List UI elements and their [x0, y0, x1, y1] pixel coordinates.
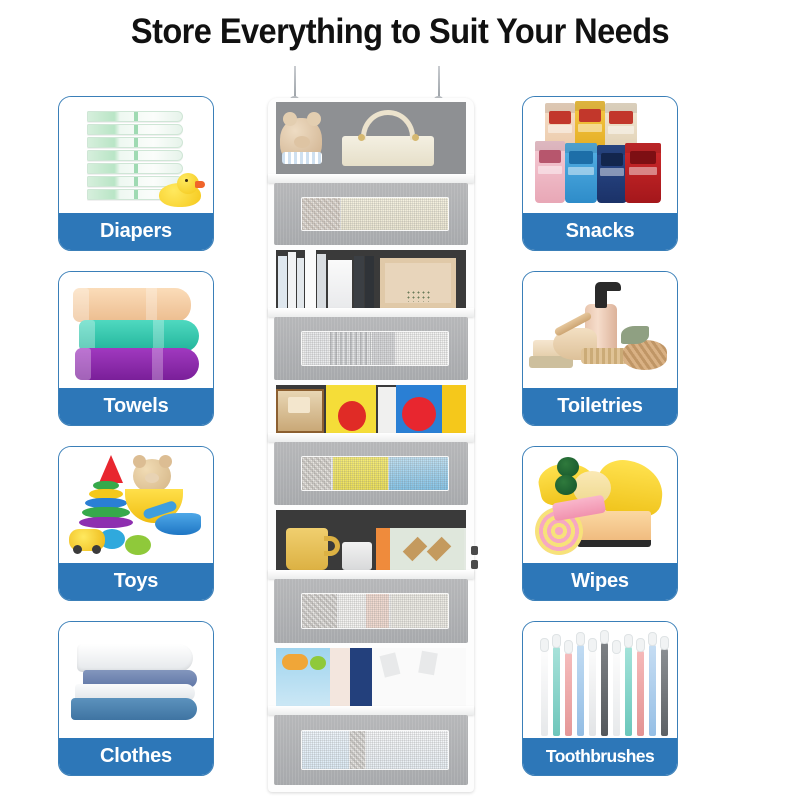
- feature-card-diapers[interactable]: Diapers: [58, 96, 214, 251]
- organizer-frame: [268, 98, 474, 792]
- toiletries-artwork: [523, 272, 677, 390]
- towels-artwork: [59, 272, 213, 390]
- toy-teddy-ear-left: [133, 455, 146, 468]
- card-label-toothbrushes: Toothbrushes: [523, 738, 677, 775]
- toy-teddy-muzzle: [145, 473, 159, 483]
- pocket-5-content-c: [366, 731, 447, 768]
- toothbrush-4-blue: [577, 644, 584, 736]
- toy-airplane-body: [155, 513, 201, 535]
- picture-frame-art: [406, 290, 430, 302]
- toothbrush-11-gray: [661, 648, 668, 736]
- feature-card-toys[interactable]: Toys: [58, 446, 214, 601]
- box-orange: [376, 528, 390, 570]
- shelf-3-pocket: [274, 442, 468, 505]
- box-pattern: [390, 528, 464, 570]
- shelf-rail-2: [268, 308, 474, 317]
- toothbrush-2-teal: [553, 646, 560, 736]
- teddy-bear-ear-left: [283, 112, 297, 126]
- shelf-rail-3: [268, 433, 474, 442]
- handbag-body: [342, 136, 434, 166]
- diaper-4: [87, 150, 183, 161]
- scrubber-pad-top: [557, 457, 579, 477]
- feature-card-toothbrushes[interactable]: Toothbrushes: [522, 621, 678, 776]
- clothes-white-top: [77, 644, 193, 672]
- side-clip-upper: [471, 546, 478, 555]
- toy-car-wheel-right: [92, 545, 101, 554]
- handbag-ring-right: [412, 134, 419, 141]
- duck-beak: [195, 181, 205, 188]
- pocket-4-content-b: [339, 594, 365, 628]
- shelf-5-mesh-window: [301, 730, 448, 769]
- snack-box-white: [378, 387, 396, 433]
- shelf-rail-5: [268, 706, 474, 715]
- pocket-4-content-a: [302, 594, 337, 628]
- stacker-ring-purple: [79, 517, 133, 528]
- shelf-4-open: [276, 510, 466, 570]
- pocket-4-content-d: [391, 594, 448, 628]
- towel-purple: [75, 348, 199, 380]
- snack-bag-navy: [597, 145, 627, 203]
- diaper-3: [87, 137, 183, 148]
- pocket-4-content-c: [366, 594, 389, 628]
- shelf-2-mesh-window: [301, 331, 448, 366]
- pocket-1-content-a: [302, 198, 340, 231]
- pocket-2-content-d: [397, 332, 448, 365]
- book-2: [288, 252, 296, 308]
- toothbrush-7-white: [613, 652, 620, 736]
- snack-bag-pink: [535, 141, 565, 203]
- toys-artwork: [59, 447, 213, 565]
- soap-dispenser-neck: [595, 288, 607, 308]
- feature-card-wipes[interactable]: Wipes: [522, 446, 678, 601]
- toy-flower-green: [125, 535, 151, 555]
- pocket-1-content-b: [341, 198, 447, 231]
- pocket-2-content-a: [305, 332, 328, 365]
- card-label-towels: Towels: [59, 388, 213, 425]
- rubber-duck-icon: [159, 173, 201, 207]
- toothbrush-8-teal: [625, 646, 632, 736]
- box-edge: [464, 528, 466, 570]
- shelf-3-open: [276, 385, 466, 433]
- scrubber-pad-bottom: [555, 475, 577, 495]
- pocket-5-content-a: [302, 731, 349, 768]
- toy-car-wheel-left: [73, 545, 82, 554]
- sponge-scour-side: [577, 540, 651, 547]
- clothes-blue-bottom: [71, 698, 197, 720]
- card-label-clothes: Clothes: [59, 738, 213, 775]
- wipes-artwork: [523, 447, 677, 565]
- teddy-bear-ear-right: [307, 112, 321, 126]
- mug-yellow: [286, 528, 328, 570]
- card-label-toys: Toys: [59, 563, 213, 600]
- pocket-3-content-b: [333, 457, 388, 490]
- page-title: Store Everything to Suit Your Needs: [28, 12, 772, 52]
- shelf-1-pocket: [274, 183, 468, 245]
- shelf-5-open: [276, 648, 466, 706]
- shelf-2-open: [276, 250, 466, 308]
- picture-book-cream: [330, 648, 350, 706]
- toiletries-card[interactable]: Toiletries: [522, 271, 678, 426]
- feature-card-snacks[interactable]: Snacks: [522, 96, 678, 251]
- toothbrush-3-pink: [565, 652, 572, 736]
- sponge-block: [577, 511, 651, 543]
- scrub-brush: [581, 348, 629, 364]
- diapers-artwork: [59, 97, 213, 215]
- organizer-illustration: [262, 66, 480, 794]
- shelf-2-pocket: [274, 317, 468, 380]
- towel-peach: [73, 288, 191, 322]
- picture-book-burger: [282, 654, 308, 670]
- notebook-white: [328, 260, 352, 308]
- container-white: [342, 542, 372, 570]
- shelf-5-pocket: [274, 715, 468, 785]
- soap-dispenser-pump: [595, 282, 621, 291]
- duck-eye: [185, 179, 188, 182]
- toothbrush-6-gray: [601, 642, 608, 736]
- book-1: [278, 256, 287, 308]
- feature-card-clothes[interactable]: Clothes: [58, 621, 214, 776]
- diaper-1: [87, 111, 183, 122]
- picture-book-fruit: [310, 656, 326, 670]
- snack-box-yellow-dot: [338, 401, 366, 431]
- side-clip-lower: [471, 560, 478, 569]
- book-title-sequence: [376, 686, 462, 704]
- snacks-artwork: [523, 97, 677, 215]
- book-dark-1: [354, 256, 364, 308]
- pocket-2-content-b: [330, 332, 371, 365]
- product-feature-collage: Store Everything to Suit Your Needs: [0, 0, 800, 800]
- snack-bag-red: [625, 143, 661, 203]
- shelf-3-mesh-window: [301, 456, 448, 491]
- shelf-rail-4: [268, 570, 474, 579]
- pocket-3-content-c: [389, 457, 447, 490]
- card-label-wipes: Wipes: [523, 563, 677, 600]
- stacker-cone: [99, 455, 123, 483]
- shelf-4-pocket: [274, 579, 468, 643]
- teddy-bear-muzzle: [294, 136, 310, 148]
- card-label-toiletries: Toiletries: [523, 388, 677, 425]
- toy-ball-red: [402, 397, 436, 431]
- snack-box-number: [288, 397, 310, 413]
- toy-teddy-ear-right: [159, 455, 172, 468]
- book-4: [305, 250, 316, 308]
- teddy-bear-ribbon: [282, 152, 322, 164]
- toothbrushes-artwork: [523, 622, 677, 740]
- pocket-3-content-a: [302, 457, 331, 490]
- handbag-ring-left: [358, 134, 365, 141]
- pocket-5-content-b: [350, 731, 365, 768]
- toothbrush-10-blue: [649, 644, 656, 736]
- picture-book-navy: [350, 648, 372, 706]
- hanging-strap-left: [294, 66, 296, 100]
- book-5: [317, 254, 326, 308]
- clothes-artwork: [59, 622, 213, 740]
- book-dark-2: [365, 256, 374, 308]
- card-label-diapers: Diapers: [59, 213, 213, 250]
- shelf-rail-1: [268, 174, 474, 183]
- feature-card-towels[interactable]: Towels: [58, 271, 214, 426]
- toothbrush-1-white: [541, 650, 548, 736]
- diaper-2: [87, 124, 183, 135]
- loofah-sponge: [623, 340, 667, 370]
- shelf-1-open: [276, 102, 466, 174]
- mug-handle: [324, 536, 340, 556]
- eucalyptus-leaf: [621, 326, 649, 344]
- toothbrush-5-white: [589, 650, 596, 736]
- toothbrush-9-pink: [637, 650, 644, 736]
- pocket-2-content-c: [372, 332, 395, 365]
- toy-ball-yellow: [442, 385, 466, 433]
- snack-bag-blue: [565, 143, 597, 203]
- hanging-strap-right: [438, 66, 440, 100]
- shelf-4-mesh-window: [301, 593, 448, 629]
- shelf-1-mesh-window: [301, 197, 448, 232]
- handbag-handle: [361, 110, 415, 140]
- card-label-snacks: Snacks: [523, 213, 677, 250]
- book-3: [297, 258, 304, 308]
